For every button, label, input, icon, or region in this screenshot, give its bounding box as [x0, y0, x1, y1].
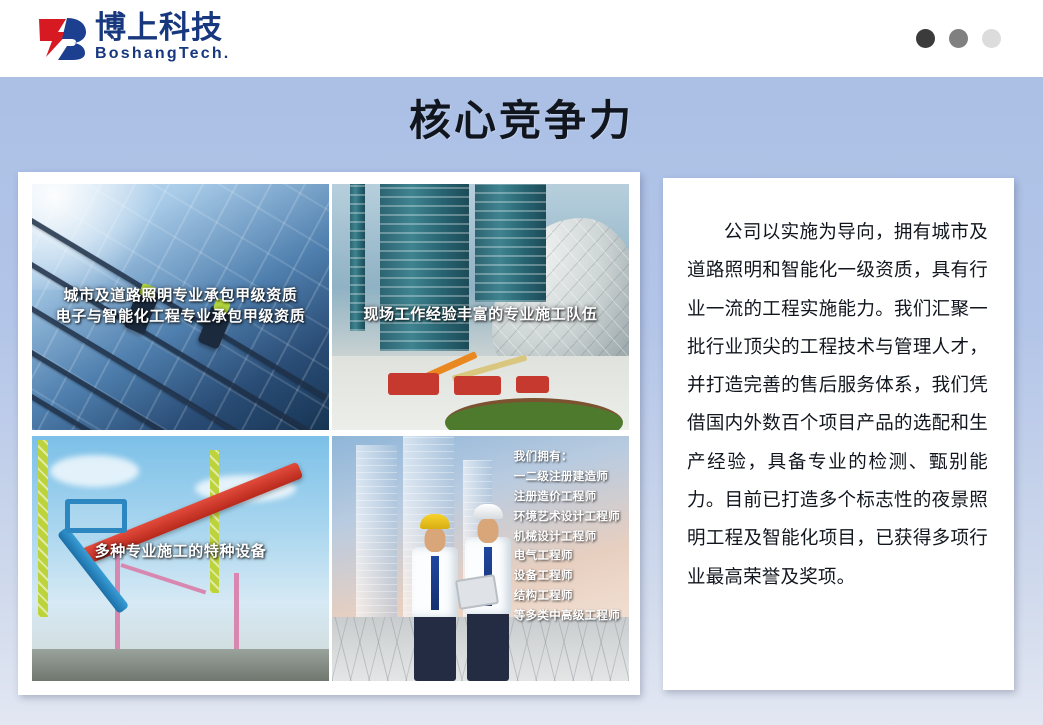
photo-engineers[interactable]: 我们拥有： 一二级注册建造师 注册造价工程师 环境艺术设计工程师 机械设计工程师… — [332, 436, 629, 682]
page-header: 博上科技 BoshangTech. — [0, 0, 1043, 77]
caption-line-1: 多种专业施工的特种设备 — [32, 541, 329, 563]
dot-mid[interactable] — [949, 29, 968, 48]
lattice-crane-right — [210, 450, 219, 592]
dot-light[interactable] — [982, 29, 1001, 48]
photo-caption: 现场工作经验丰富的专业施工队伍 — [332, 304, 629, 326]
roster-item: 等多类中高级工程师 — [514, 606, 620, 626]
gallery-grid: 城市及道路照明专业承包甲级资质 电子与智能化工程专业承包甲级资质 现场工作经验丰… — [32, 184, 629, 681]
lift-vehicle-1 — [388, 373, 438, 395]
tower-block-b — [475, 184, 546, 302]
gallery-card: 城市及道路照明专业承包甲级资质 电子与智能化工程专业承包甲级资质 现场工作经验丰… — [18, 172, 640, 695]
roster-item: 设备工程师 — [514, 566, 620, 586]
brand-text: 博上科技 BoshangTech. — [95, 13, 230, 63]
roster-item: 一二级注册建造师 — [514, 467, 620, 487]
roster-item: 环境艺术设计工程师 — [514, 507, 620, 527]
lift-basket — [65, 499, 127, 533]
dot-dark[interactable] — [916, 29, 935, 48]
caption-line-2: 电子与智能化工程专业承包甲级资质 — [32, 306, 329, 328]
page-title: 核心竞争力 — [0, 96, 1043, 146]
roster-item: 电气工程师 — [514, 546, 620, 566]
brand-name-en: BoshangTech. — [95, 45, 230, 63]
photo-caption: 城市及道路照明专业承包甲级资质 电子与智能化工程专业承包甲级资质 — [32, 285, 329, 329]
caption-line-1: 城市及道路照明专业承包甲级资质 — [32, 285, 329, 307]
photo-boom-lift[interactable]: 多种专业施工的特种设备 — [32, 436, 329, 682]
brand-name-cn: 博上科技 — [95, 13, 230, 44]
roster-title: 我们拥有： — [514, 447, 620, 467]
roster-item: 结构工程师 — [514, 586, 620, 606]
tower-crane-jib-1 — [120, 563, 206, 594]
description-paragraph: 公司以实施为导向，拥有城市及道路照明和智能化一级资质，具有行业一流的工程实施能力… — [687, 214, 988, 597]
description-card: 公司以实施为导向，拥有城市及道路照明和智能化一级资质，具有行业一流的工程实施能力… — [663, 178, 1014, 690]
ground-base — [32, 649, 329, 681]
photo-glass-facade[interactable]: 城市及道路照明专业承包甲级资质 电子与智能化工程专业承包甲级资质 — [32, 184, 329, 430]
photo-construction-site[interactable]: 现场工作经验丰富的专业施工队伍 — [332, 184, 629, 430]
engineer-roster: 我们拥有： 一二级注册建造师 注册造价工程师 环境艺术设计工程师 机械设计工程师… — [514, 447, 620, 626]
caption-line-1: 现场工作经验丰富的专业施工队伍 — [332, 304, 629, 326]
header-dots — [916, 29, 1001, 48]
photo-caption: 多种专业施工的特种设备 — [32, 541, 329, 563]
roster-item: 机械设计工程师 — [514, 527, 620, 547]
boshang-b-logo-icon — [36, 15, 88, 61]
lift-vehicle-3 — [516, 376, 549, 393]
lift-vehicle-2 — [454, 376, 502, 396]
building-left — [356, 445, 398, 627]
brand-logo[interactable]: 博上科技 BoshangTech. — [36, 13, 230, 63]
cloud-1 — [50, 455, 139, 487]
lattice-crane-left — [38, 440, 48, 617]
roster-item: 注册造价工程师 — [514, 487, 620, 507]
